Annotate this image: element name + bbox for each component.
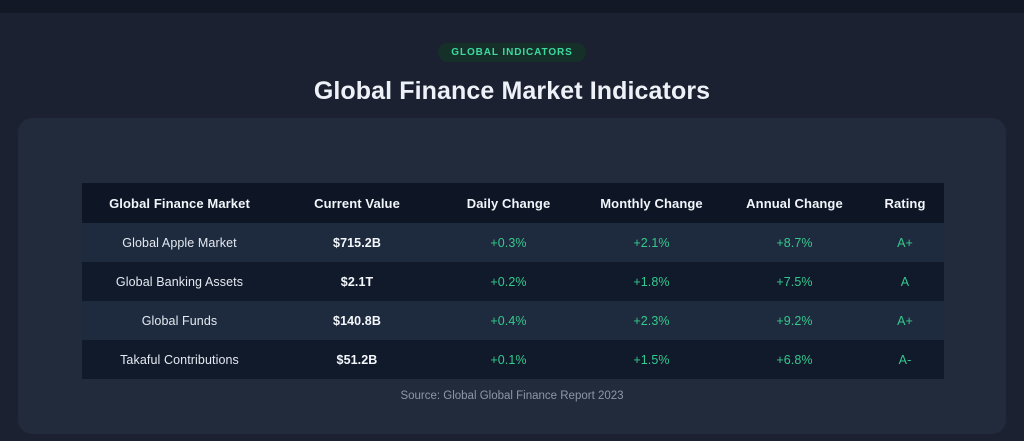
- table-row: Takaful Contributions $51.2B +0.1% +1.5%…: [82, 340, 944, 379]
- cell-annual-change: +6.8%: [723, 340, 866, 379]
- column-header-daily-change[interactable]: Daily Change: [437, 183, 580, 223]
- cell-rating: A+: [866, 223, 944, 262]
- cell-daily-change: +0.2%: [437, 262, 580, 301]
- cell-rating: A: [866, 262, 944, 301]
- cell-rating: A-: [866, 340, 944, 379]
- status-badge: GLOBAL INDICATORS: [438, 43, 585, 62]
- cell-daily-change: +0.1%: [437, 340, 580, 379]
- cell-monthly-change: +2.3%: [580, 301, 723, 340]
- cell-market: Global Apple Market: [82, 223, 277, 262]
- cell-current-value: $51.2B: [277, 340, 437, 379]
- cell-daily-change: +0.3%: [437, 223, 580, 262]
- column-header-annual-change[interactable]: Annual Change: [723, 183, 866, 223]
- table-header: Global Finance Market Current Value Dail…: [82, 183, 944, 223]
- table-header-row: Global Finance Market Current Value Dail…: [82, 183, 944, 223]
- page-root: GLOBAL INDICATORS Global Finance Market …: [0, 0, 1024, 441]
- cell-current-value: $140.8B: [277, 301, 437, 340]
- table-row: Global Banking Assets $2.1T +0.2% +1.8% …: [82, 262, 944, 301]
- cell-rating: A+: [866, 301, 944, 340]
- column-header-monthly-change[interactable]: Monthly Change: [580, 183, 723, 223]
- indicators-card: Global Finance Market Current Value Dail…: [18, 118, 1006, 434]
- cell-annual-change: +7.5%: [723, 262, 866, 301]
- cell-daily-change: +0.4%: [437, 301, 580, 340]
- cell-current-value: $2.1T: [277, 262, 437, 301]
- cell-current-value: $715.2B: [277, 223, 437, 262]
- cell-monthly-change: +1.5%: [580, 340, 723, 379]
- column-header-current-value[interactable]: Current Value: [277, 183, 437, 223]
- cell-annual-change: +8.7%: [723, 223, 866, 262]
- table-row: Global Apple Market $715.2B +0.3% +2.1% …: [82, 223, 944, 262]
- page-header: GLOBAL INDICATORS Global Finance Market …: [0, 13, 1024, 118]
- indicators-table-wrap: Global Finance Market Current Value Dail…: [82, 183, 944, 379]
- source-caption: Source: Global Global Finance Report 202…: [18, 390, 1006, 402]
- table-row: Global Funds $140.8B +0.4% +2.3% +9.2% A…: [82, 301, 944, 340]
- cell-market: Global Funds: [82, 301, 277, 340]
- top-strip: [0, 0, 1024, 13]
- cell-monthly-change: +1.8%: [580, 262, 723, 301]
- cell-monthly-change: +2.1%: [580, 223, 723, 262]
- column-header-market[interactable]: Global Finance Market: [82, 183, 277, 223]
- page-title: Global Finance Market Indicators: [314, 77, 710, 106]
- table-body: Global Apple Market $715.2B +0.3% +2.1% …: [82, 223, 944, 379]
- cell-annual-change: +9.2%: [723, 301, 866, 340]
- cell-market: Global Banking Assets: [82, 262, 277, 301]
- column-header-rating[interactable]: Rating: [866, 183, 944, 223]
- cell-market: Takaful Contributions: [82, 340, 277, 379]
- indicators-table: Global Finance Market Current Value Dail…: [82, 183, 944, 379]
